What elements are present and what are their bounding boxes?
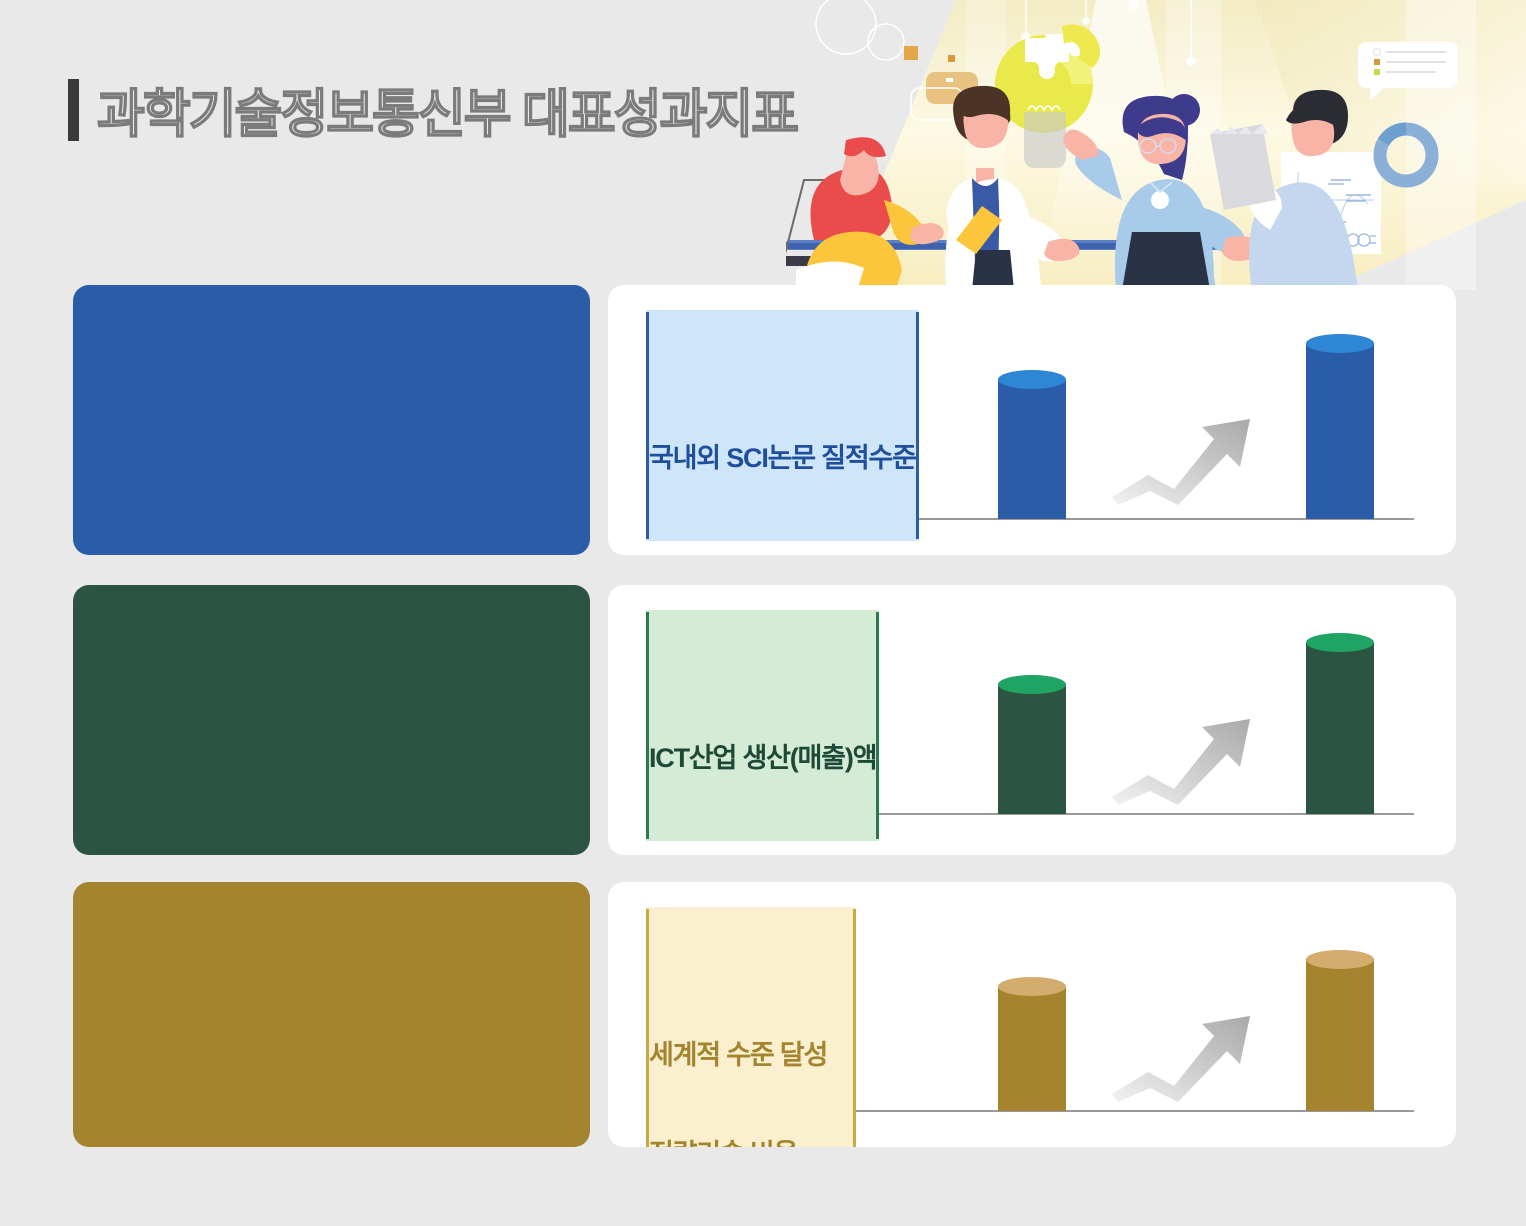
growth-arrow-icon xyxy=(1108,713,1258,805)
indicator-row-sci-paper: 국내외 SCI논문 질적수준 xyxy=(0,285,1526,555)
bar-target xyxy=(1306,633,1374,814)
color-panel-strategic-tech[interactable] xyxy=(73,882,590,1147)
color-panel-sci-paper[interactable] xyxy=(73,285,590,555)
bar-current xyxy=(998,977,1066,1111)
card-label-line: ICT산업 생산(매출)액 xyxy=(649,742,876,775)
panel-pointer-ict-revenue xyxy=(515,676,557,764)
page-title: 과학기술정보통신부 대표성과지표 xyxy=(68,72,797,147)
indicator-card-strategic-tech[interactable]: 세계적 수준 달성 전략기술 비율 중장기 xyxy=(608,882,1456,1147)
card-label-sci-paper: 국내외 SCI논문 질적수준 xyxy=(646,310,919,541)
bar-current xyxy=(998,675,1066,814)
growth-arrow-icon xyxy=(1108,413,1258,505)
infographic-stage: 과학기술정보통신부 대표성과지표 xyxy=(0,0,1526,1226)
page-header: 과학기술정보통신부 대표성과지표 xyxy=(0,0,1526,285)
card-label-line: 국내외 SCI논문 질적수준 xyxy=(649,442,916,475)
bar-current xyxy=(998,370,1066,519)
card-label-ict-revenue: ICT산업 생산(매출)액 xyxy=(646,610,879,841)
panel-pointer-sci-paper xyxy=(515,376,557,464)
card-label-strategic-tech: 세계적 수준 달성 전략기술 비율 중장기 xyxy=(646,907,856,1147)
researchers-meeting-illustration xyxy=(786,0,1526,290)
indicator-row-ict-revenue: ICT산업 생산(매출)액 xyxy=(0,585,1526,855)
color-panel-ict-revenue[interactable] xyxy=(73,585,590,855)
bar-target xyxy=(1306,334,1374,519)
panel-pointer-strategic-tech xyxy=(515,973,557,1061)
indicator-card-ict-revenue[interactable]: ICT산업 생산(매출)액 xyxy=(608,585,1456,855)
indicator-row-strategic-tech: 세계적 수준 달성 전략기술 비율 중장기 xyxy=(0,882,1526,1152)
title-accent-bar xyxy=(68,79,79,141)
card-label-line-1: 세계적 수준 달성 xyxy=(649,1039,853,1072)
card-label-line-2-main: 전략기술 비율 xyxy=(649,1139,797,1147)
indicator-card-sci-paper[interactable]: 국내외 SCI논문 질적수준 xyxy=(608,285,1456,555)
growth-arrow-icon xyxy=(1108,1010,1258,1102)
page-title-text: 과학기술정보통신부 대표성과지표 xyxy=(97,72,797,147)
bar-target xyxy=(1306,950,1374,1111)
card-label-line-2: 전략기술 비율 중장기 xyxy=(649,1138,853,1147)
